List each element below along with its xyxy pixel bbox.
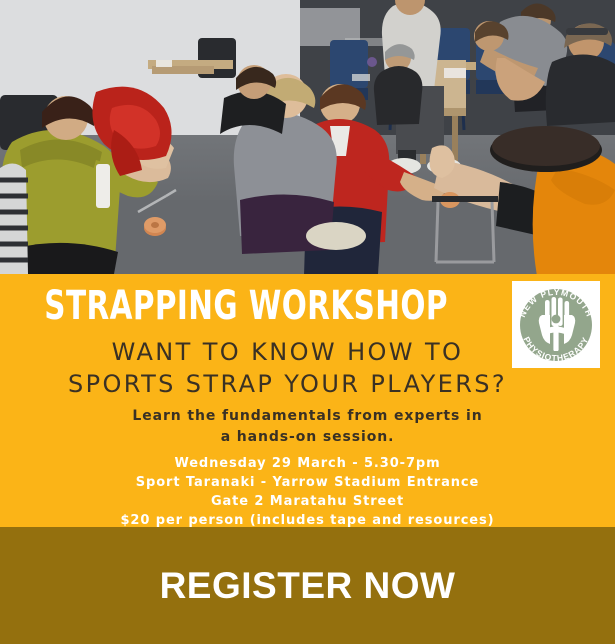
subheadline-line-1: WANT TO KNOW HOW TO [112,338,464,366]
poster: STRAPPING WORKSHOP WANT TO KNOW HOW TO S… [0,0,615,644]
event-venue: Sport Taranaki - Yarrow Stadium Entrance [0,473,615,492]
lede-line-1: Learn the fundamentals from experts in [0,406,615,427]
workshop-photo [0,0,615,274]
subheadline-line-2: SPORTS STRAP YOUR PLAYERS? [0,368,575,400]
lede-text: Learn the fundamentals from experts in a… [0,406,615,448]
logo: NEW PLYMOUTH PHYSIOTHERAPY [512,281,600,368]
event-datetime: Wednesday 29 March - 5.30-7pm [0,454,615,473]
event-address: Gate 2 Maratahu Street [0,492,615,511]
register-now-label[interactable]: REGISTER NOW [0,527,615,644]
event-details: Wednesday 29 March - 5.30-7pm Sport Tara… [0,454,615,530]
subheadline: WANT TO KNOW HOW TO SPORTS STRAP YOUR PL… [0,336,575,400]
register-now-bar[interactable]: REGISTER NOW [0,527,615,644]
page-title: STRAPPING WORKSHOP [44,284,447,328]
lede-line-2: a hands-on session. [0,427,615,448]
